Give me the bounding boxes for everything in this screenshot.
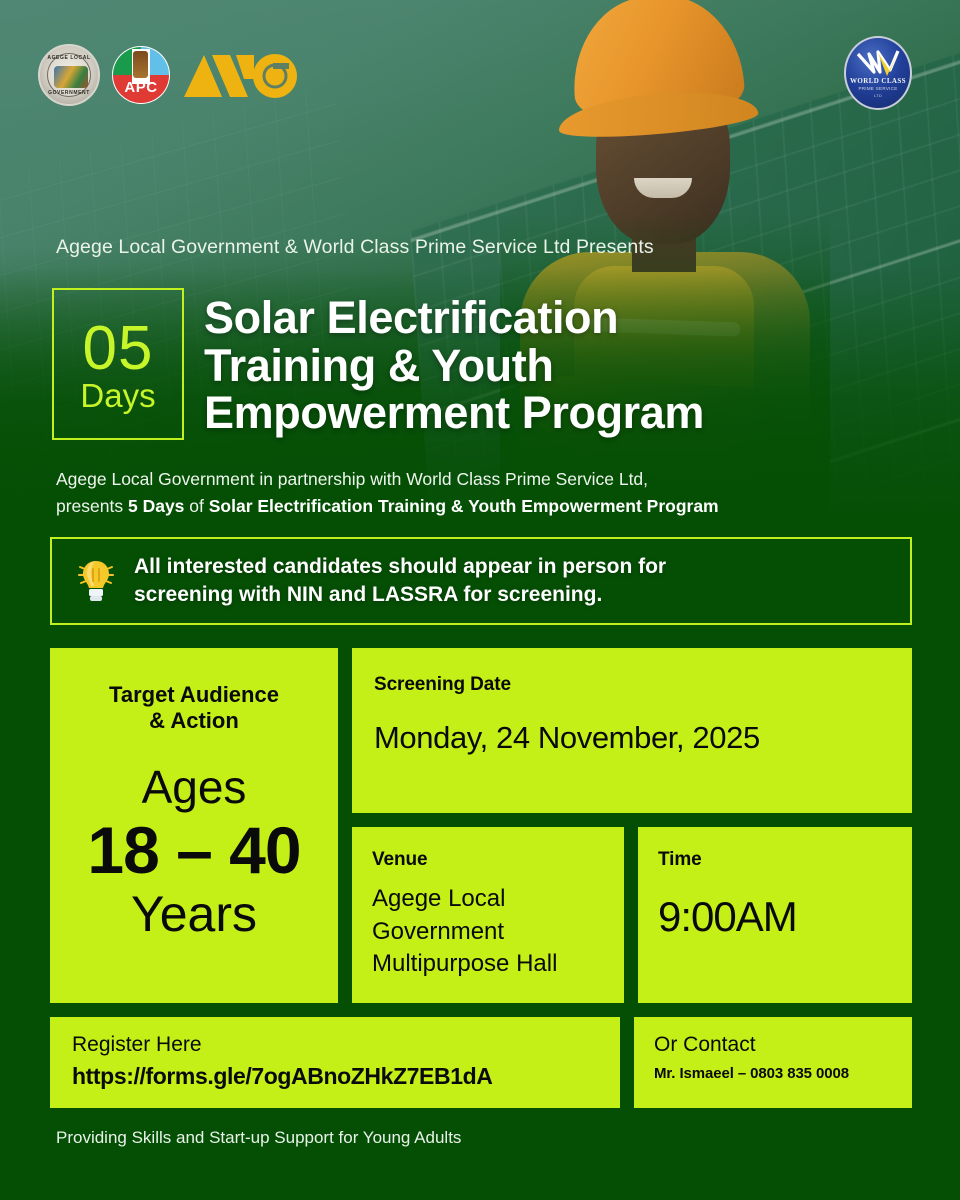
agege-seal-top-text: AGEGE LOCAL bbox=[40, 55, 98, 61]
apc-broom-icon bbox=[133, 51, 148, 78]
days-number: 05 bbox=[83, 320, 154, 377]
screening-notice-text: All interested candidates should appear … bbox=[134, 553, 666, 608]
world-class-name: WORLD CLASS bbox=[844, 77, 912, 85]
target-audience-card: Target Audience & Action Ages 18 – 40 Ye… bbox=[50, 648, 338, 1003]
apc-logo-icon: APC bbox=[112, 46, 170, 104]
info-grid-main-row: Target Audience & Action Ages 18 – 40 Ye… bbox=[50, 648, 912, 1003]
callout-line-2: screening with NIN and LASSRA for screen… bbox=[134, 583, 602, 606]
venue-value: Agege Local Government Multipurpose Hall bbox=[372, 883, 604, 981]
screening-date-value: Monday, 24 November, 2025 bbox=[374, 720, 890, 756]
headline-block: 05 Days Solar Electrification Training &… bbox=[52, 288, 704, 440]
register-url[interactable]: https://forms.gle/7ogABnoZHkZ7EB1dA bbox=[72, 1063, 598, 1090]
years-label: Years bbox=[131, 888, 257, 941]
time-card: Time 9:00AM bbox=[638, 827, 912, 1003]
intro-line-2-mid: of bbox=[184, 496, 208, 516]
screening-notice-callout: All interested candidates should appear … bbox=[50, 537, 912, 625]
info-grid: Target Audience & Action Ages 18 – 40 Ye… bbox=[50, 648, 912, 1108]
days-label: Days bbox=[80, 379, 155, 412]
intro-paragraph: Agege Local Government in partnership wi… bbox=[56, 466, 886, 519]
venue-value-line2: Government bbox=[372, 918, 504, 945]
register-label: Register Here bbox=[72, 1033, 598, 1057]
venue-value-line1: Agege Local bbox=[372, 885, 505, 912]
footer-tagline: Providing Skills and Start-up Support fo… bbox=[56, 1128, 461, 1148]
venue-time-row: Venue Agege Local Government Multipurpos… bbox=[352, 827, 912, 1003]
info-grid-bottom-row: Register Here https://forms.gle/7ogABnoZ… bbox=[50, 1017, 912, 1108]
venue-label: Venue bbox=[372, 849, 604, 871]
intro-bold-program: Solar Electrification Training & Youth E… bbox=[209, 496, 719, 516]
avo-logo-icon bbox=[182, 47, 298, 103]
screening-date-card: Screening Date Monday, 24 November, 2025 bbox=[352, 648, 912, 813]
agege-seal-icon: AGEGE LOCAL GOVERNMENT bbox=[38, 44, 100, 106]
intro-bold-days: 5 Days bbox=[128, 496, 184, 516]
world-class-suffix: LTD bbox=[844, 93, 912, 98]
apc-wordmark: APC bbox=[113, 79, 169, 96]
headline-line-1: Solar Electrification bbox=[204, 292, 618, 343]
intro-line-2-prefix: presents bbox=[56, 496, 128, 516]
venue-card: Venue Agege Local Government Multipurpos… bbox=[352, 827, 624, 1003]
presents-line: Agege Local Government & World Class Pri… bbox=[56, 236, 654, 259]
target-audience-title: Target Audience & Action bbox=[109, 682, 279, 734]
agege-seal-bottom-text: GOVERNMENT bbox=[40, 90, 98, 96]
age-range-value: 18 – 40 bbox=[87, 816, 300, 886]
intro-line-1: Agege Local Government in partnership wi… bbox=[56, 469, 648, 489]
contact-value[interactable]: Mr. Ismaeel – 0803 835 0008 bbox=[654, 1065, 892, 1082]
world-class-logo-icon: WORLD CLASS PRIME SERVICE LTD bbox=[844, 36, 912, 110]
info-grid-right-column: Screening Date Monday, 24 November, 2025… bbox=[352, 648, 912, 1003]
agege-seal-crest bbox=[54, 66, 88, 88]
page-title: Solar Electrification Training & Youth E… bbox=[204, 294, 704, 437]
target-audience-title-line1: Target Audience bbox=[109, 682, 279, 707]
ages-label: Ages bbox=[142, 764, 247, 810]
venue-value-line3: Multipurpose Hall bbox=[372, 950, 557, 977]
register-card[interactable]: Register Here https://forms.gle/7ogABnoZ… bbox=[50, 1017, 620, 1108]
target-audience-title-line2: & Action bbox=[149, 708, 239, 733]
time-label: Time bbox=[658, 849, 892, 871]
contact-label: Or Contact bbox=[654, 1033, 892, 1057]
headline-line-3: Empowerment Program bbox=[204, 387, 704, 438]
days-badge: 05 Days bbox=[52, 288, 184, 440]
headline-line-2: Training & Youth bbox=[204, 340, 553, 391]
partner-logo-row: AGEGE LOCAL GOVERNMENT APC bbox=[38, 44, 298, 106]
lightbulb-icon bbox=[76, 557, 116, 605]
callout-line-1: All interested candidates should appear … bbox=[134, 555, 666, 578]
world-class-sub: PRIME SERVICE bbox=[844, 86, 912, 91]
contact-card: Or Contact Mr. Ismaeel – 0803 835 0008 bbox=[634, 1017, 912, 1108]
screening-date-label: Screening Date bbox=[374, 674, 890, 696]
poster-root: AGEGE LOCAL GOVERNMENT APC bbox=[0, 0, 960, 1200]
time-value: 9:00AM bbox=[658, 893, 892, 941]
